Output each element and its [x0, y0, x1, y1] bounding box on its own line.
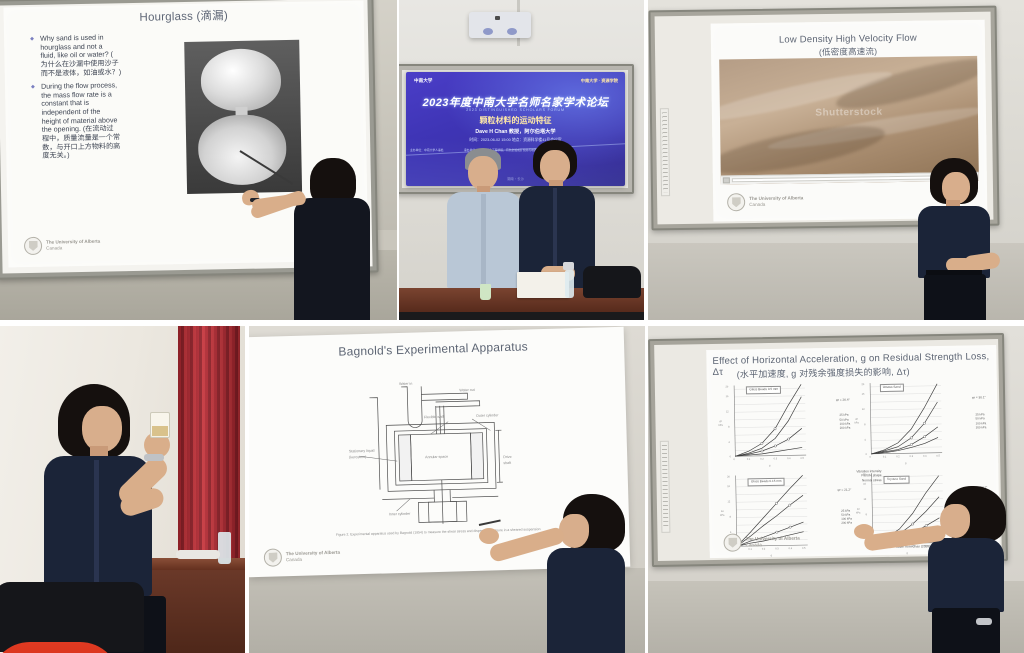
svg-text:Stationary liquid: Stationary liquid — [349, 449, 375, 454]
chart-3-title: Glass Beads 0.15 mm — [748, 478, 785, 486]
chart-ottawa-sand[interactable]: 00.10.2 0.30.40.5 048 121620 ΔτkPa g Ott… — [853, 377, 989, 467]
hand — [479, 528, 499, 544]
board-marker-tray — [660, 441, 671, 533]
svg-text:20: 20 — [725, 385, 728, 388]
chart-2-annotation: φr = 30.1° — [972, 395, 986, 399]
svg-text:16: 16 — [726, 395, 729, 398]
shield-icon — [264, 548, 282, 566]
organizer-badge: 中南大学 · 资源学院 — [581, 78, 618, 84]
svg-text:0.5: 0.5 — [936, 455, 940, 458]
panel-acceleration-charts[interactable]: Effect of Horizontal Acceleration, g on … — [648, 326, 1024, 653]
chart-1-legend: 25 kPa 50 kPa 100 kPa 200 kPa — [839, 413, 850, 430]
banner-speaker: Dave H Chan 教授，阿尔伯塔大学 — [406, 128, 625, 135]
svg-text:Annular space: Annular space — [425, 455, 448, 460]
black-bag — [583, 266, 641, 298]
guest-figure — [447, 148, 521, 288]
green-cup — [480, 284, 491, 300]
svg-text:kPa: kPa — [720, 514, 725, 517]
host-university-logo: 中南大学 — [414, 78, 432, 84]
university-logo: The University of Alberta Canada — [264, 547, 341, 567]
svg-text:g: g — [769, 464, 771, 467]
wristwatch — [144, 454, 164, 461]
svg-text:4: 4 — [728, 441, 730, 444]
water-bottle — [218, 532, 231, 564]
speaker-figure — [912, 158, 998, 320]
svg-text:Δτ: Δτ — [719, 420, 722, 423]
svg-text:0.3: 0.3 — [910, 455, 914, 458]
svg-text:8: 8 — [730, 516, 732, 519]
speaker-figure — [537, 494, 635, 653]
shield-icon — [723, 534, 741, 552]
chart-4-title: Toyoura Sand — [884, 476, 909, 484]
svg-text:Δτ: Δτ — [857, 508, 860, 511]
svg-text:0: 0 — [730, 455, 732, 458]
svg-text:kPa: kPa — [856, 512, 861, 515]
svg-text:0.1: 0.1 — [747, 458, 751, 461]
svg-text:Δτ: Δτ — [721, 510, 724, 513]
svg-text:20: 20 — [727, 475, 730, 478]
svg-text:12: 12 — [862, 408, 865, 411]
paper-stack — [517, 272, 569, 298]
svg-text:16: 16 — [863, 483, 866, 486]
svg-text:20: 20 — [861, 383, 864, 386]
svg-text:12: 12 — [727, 500, 730, 503]
apparatus-diagram: Water in Water out Flexible wall Outer c… — [339, 373, 543, 527]
slide-bullet-list: Why sand is used in hourglass and not a … — [30, 33, 158, 164]
chart-3-legend: 25 kPa 50 kPa 100 kPa 200 kPa — [841, 508, 852, 525]
banner-topic: 颗粒材料的运动特征 — [406, 115, 625, 126]
chart-2-legend: 25 kPa 50 kPa 100 kPa 200 kPa — [975, 412, 986, 429]
svg-text:8: 8 — [728, 426, 730, 429]
university-logo: The University of Alberta Canada — [24, 236, 101, 255]
speaker-figure — [36, 384, 162, 614]
banner-footnote-left: 主办单位：中南大学人事处 — [410, 148, 444, 152]
svg-text:0.4: 0.4 — [923, 455, 927, 458]
svg-text:0.3: 0.3 — [774, 457, 778, 460]
play-icon[interactable] — [723, 177, 730, 183]
svg-text:0.5: 0.5 — [800, 457, 804, 460]
svg-text:g: g — [907, 552, 909, 555]
svg-text:0.2: 0.2 — [760, 458, 764, 461]
svg-text:12: 12 — [863, 498, 866, 501]
svg-text:Inner cylinder: Inner cylinder — [389, 512, 411, 517]
svg-text:0.1: 0.1 — [883, 455, 887, 458]
wristwatch — [976, 618, 992, 625]
video-watermark: Shutterstock — [815, 107, 882, 119]
svg-text:16: 16 — [727, 485, 730, 488]
svg-text:12: 12 — [726, 410, 729, 413]
svg-text:4: 4 — [864, 439, 866, 442]
svg-text:8: 8 — [864, 423, 866, 426]
water-bottle — [565, 270, 574, 298]
logo-line-2: Canada — [746, 542, 762, 547]
photo-collage: Hourglass (滴漏) Why sand is used in hourg… — [0, 0, 1024, 653]
shield-icon — [24, 237, 42, 255]
svg-text:kPa: kPa — [718, 424, 723, 427]
svg-text:0: 0 — [869, 456, 871, 459]
chart-2-title: Ottawa Sand — [880, 384, 904, 392]
panel-hourglass-slide[interactable]: Hourglass (滴漏) Why sand is used in hourg… — [0, 0, 397, 320]
banner-subtitle: 2023 DISTINGUISHED SCHOLARS FORUM — [406, 108, 625, 112]
shield-icon — [727, 193, 745, 211]
bullet-item: Why sand is used in hourglass and not a … — [30, 33, 157, 79]
svg-text:16: 16 — [862, 393, 865, 396]
svg-text:g: g — [905, 462, 907, 465]
svg-text:kPa: kPa — [854, 421, 859, 424]
chart-3-annotation: φr = 21.2° — [837, 487, 851, 491]
chart-1-title: Glass Beads 0.5 mm — [746, 386, 781, 394]
svg-text:0.4: 0.4 — [787, 457, 791, 460]
panel-dune-video-slide[interactable]: Low Density High Velocity Flow (低密度高速流) … — [648, 0, 1024, 320]
svg-text:0.2: 0.2 — [896, 455, 900, 458]
hand — [854, 524, 874, 539]
bullet-item: During the flow process, the mass flow r… — [31, 81, 158, 161]
slide-title: Bagnold's Experimental Apparatus — [249, 337, 624, 362]
svg-text:Drive: Drive — [503, 455, 511, 459]
logo-line-2: Canada — [286, 557, 302, 562]
svg-text:Δτ: Δτ — [855, 418, 858, 421]
board-marker-tray — [660, 108, 670, 196]
svg-text:0: 0 — [733, 458, 735, 461]
chart-1-annotation: φr = 26.4° — [836, 397, 850, 401]
chart-glass-beads-0-5mm[interactable]: 00.10.2 0.30.40.5 048 121620 ΔτkPa g Gla… — [717, 380, 853, 470]
panel-forum-banner[interactable]: 中南大学 中南大学 · 资源学院 2023年度中南大学名师名家学术论坛 2023… — [399, 0, 644, 320]
influencing-factors-note: Vibration intensity Particle shape Norma… — [856, 469, 881, 483]
university-logo: The University of Alberta Canada — [723, 533, 800, 552]
slide-title: Hourglass (滴漏) — [4, 5, 364, 28]
svg-text:Flexible wall: Flexible wall — [424, 415, 444, 420]
university-logo: The University of Alberta Canada — [727, 192, 803, 211]
svg-text:Outer cylinder: Outer cylinder — [476, 413, 499, 418]
svg-text:0.5: 0.5 — [802, 547, 806, 550]
svg-text:g: g — [771, 554, 773, 557]
speaker-figure — [278, 150, 386, 320]
svg-text:Water in: Water in — [399, 382, 412, 386]
logo-line-2: Canada — [46, 245, 62, 250]
ceiling-projector — [469, 12, 531, 38]
logo-line-2: Canada — [749, 202, 765, 207]
svg-text:Water out: Water out — [459, 388, 475, 392]
svg-text:0: 0 — [866, 453, 868, 456]
panel-sample-demonstration[interactable] — [0, 326, 245, 653]
speaker-figure — [916, 486, 1010, 653]
svg-text:(kerosene): (kerosene) — [349, 455, 366, 459]
svg-text:shaft: shaft — [503, 461, 511, 465]
svg-text:8: 8 — [866, 513, 868, 516]
panel-bagnold-apparatus[interactable]: Bagnold's Experimental Apparatus — [249, 326, 645, 653]
